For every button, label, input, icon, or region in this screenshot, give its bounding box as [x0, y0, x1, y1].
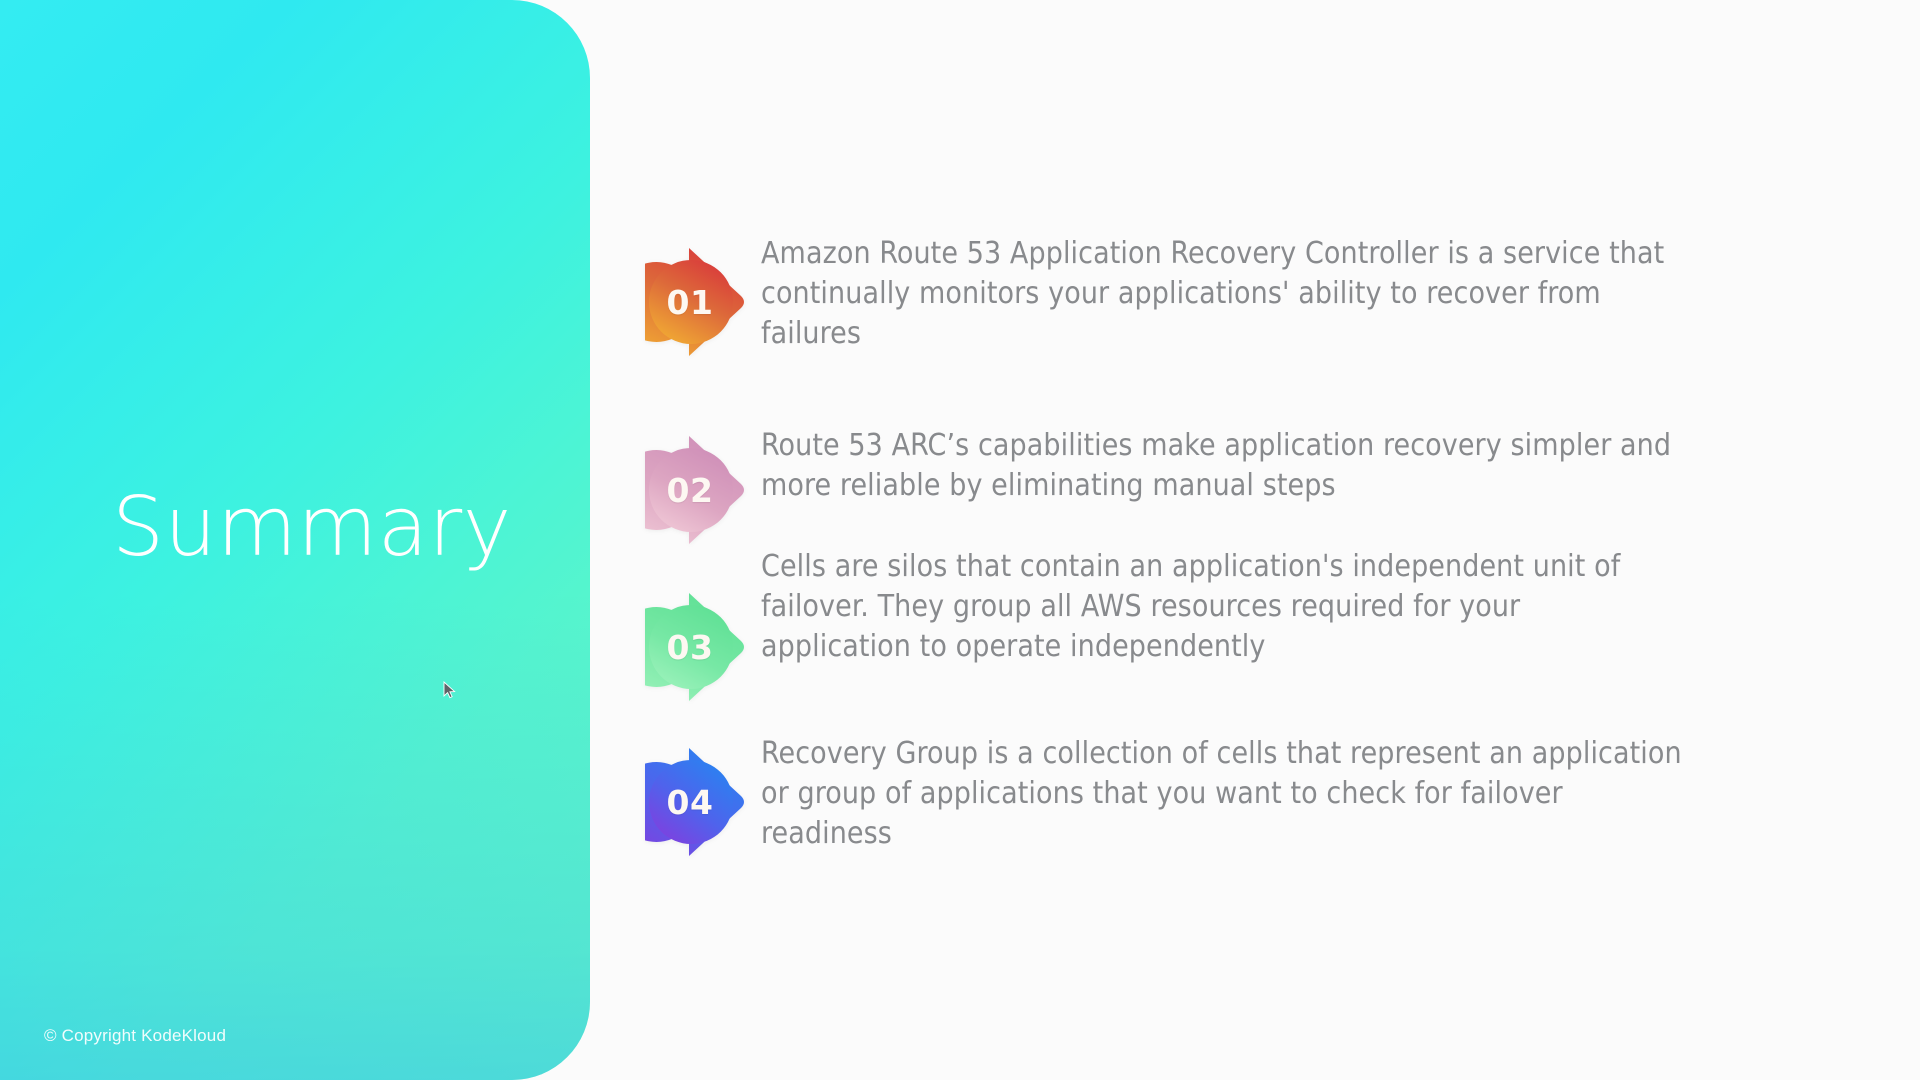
- list-item: 04 Recovery Group is a collection of cel…: [645, 732, 1705, 860]
- page-title: Summary: [112, 487, 512, 569]
- badge-number-label: 04: [645, 744, 735, 860]
- list-item: 02 Route 53 ARC’s capabilities make appl…: [645, 424, 1705, 548]
- list-item-text: Route 53 ARC’s capabilities make applica…: [761, 424, 1691, 506]
- slide-canvas: Summary © Copyright KodeKloud: [0, 0, 1920, 1080]
- number-badge-02: 02: [645, 432, 749, 548]
- list-item-text: Amazon Route 53 Application Recovery Con…: [761, 232, 1691, 354]
- badge-number-label: 02: [645, 432, 735, 548]
- badge-number-label: 01: [645, 244, 735, 360]
- list-item: 01 Amazon Route 53 Application Recovery …: [645, 232, 1705, 360]
- badge-number-label: 03: [645, 589, 735, 705]
- summary-list: 01 Amazon Route 53 Application Recovery …: [645, 0, 1845, 1080]
- list-item-text: Recovery Group is a collection of cells …: [761, 732, 1691, 854]
- number-badge-03: 03: [645, 589, 749, 705]
- mouse-pointer-icon: [443, 681, 457, 699]
- number-badge-04: 04: [645, 744, 749, 860]
- list-item-text: Cells are silos that contain an applicat…: [761, 545, 1641, 667]
- copyright-notice: © Copyright KodeKloud: [44, 1026, 226, 1046]
- number-badge-01: 01: [645, 244, 749, 360]
- list-item: 03 Cells are silos that contain an appli…: [645, 545, 1705, 705]
